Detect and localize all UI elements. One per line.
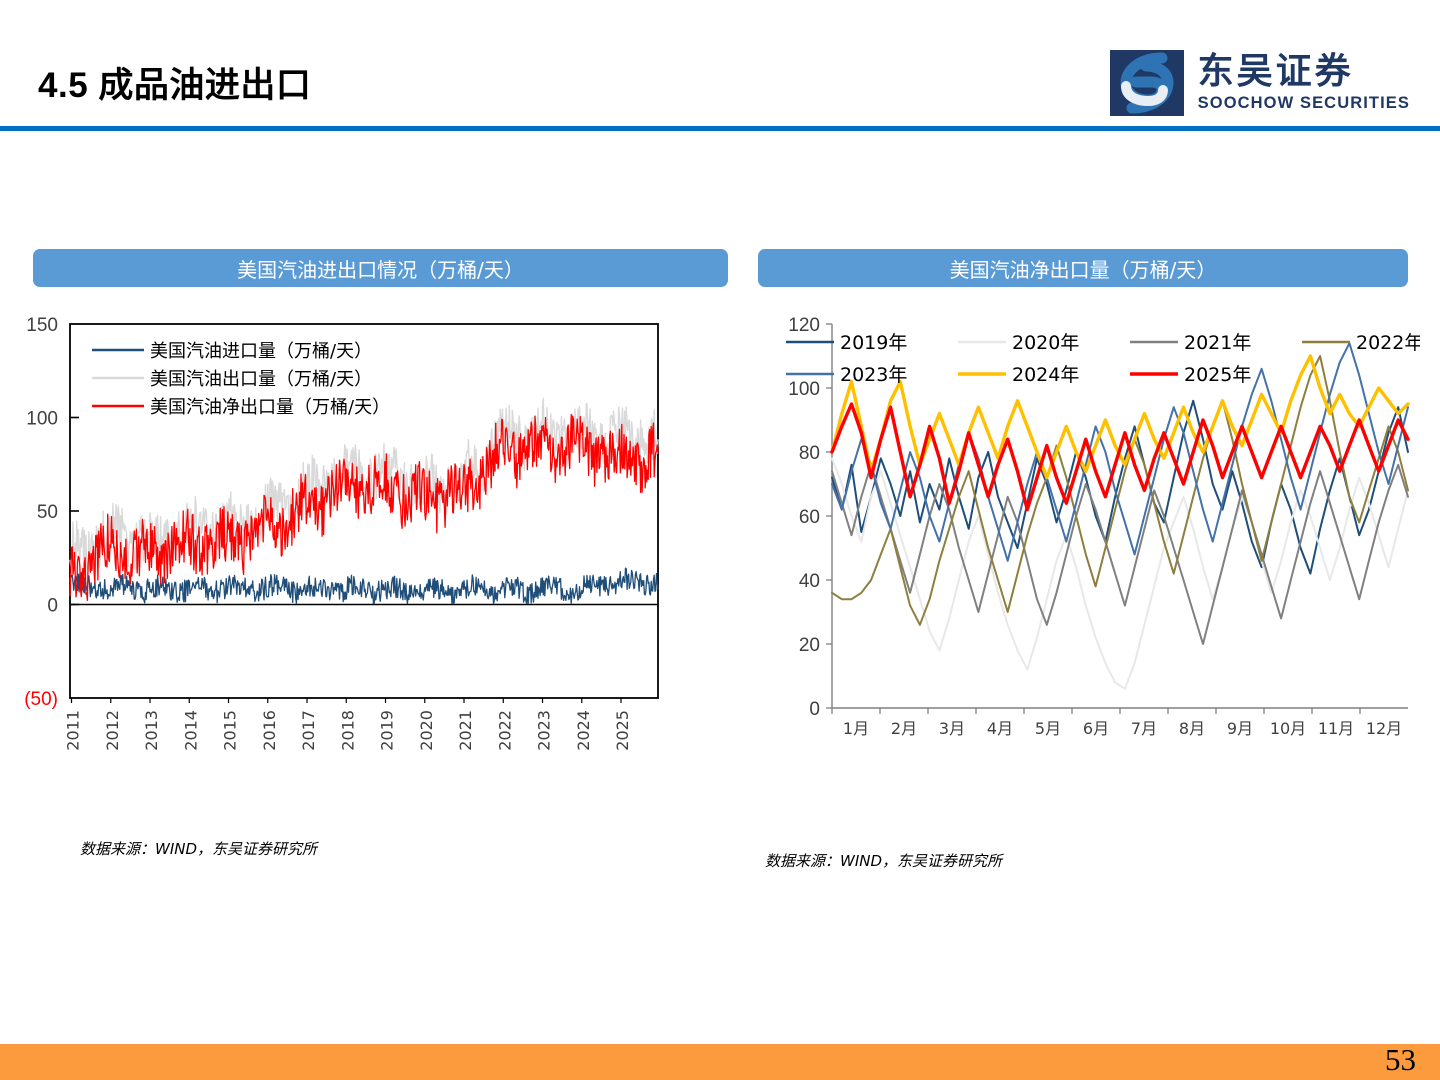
x-axis-tick-label: 2011 (64, 710, 83, 751)
page-title: 4.5 成品油进出口 (38, 57, 311, 108)
y-axis-tick-label: 20 (799, 635, 820, 656)
x-axis-tick-label: 9月 (1227, 719, 1253, 738)
page-number: 53 (1385, 1042, 1416, 1078)
y-axis-tick-label: 0 (47, 596, 58, 617)
x-axis-tick-label: 2017 (299, 710, 318, 751)
y-axis-tick-label: 80 (799, 443, 820, 464)
chart-left-svg: (50)050100150201120122013201420152016201… (10, 312, 680, 762)
y-axis-tick-label: 0 (809, 699, 820, 720)
legend-label-2021年: 2021年 (1184, 332, 1251, 354)
y-axis-tick-label: 100 (788, 379, 820, 400)
x-axis-tick-label: 11月 (1318, 719, 1354, 738)
chart-banner-left: 美国汽油进出口情况（万桶/天） (33, 249, 728, 287)
legend-label-2: 美国汽油净出口量（万桶/天） (150, 397, 390, 418)
source-note-right: 数据来源：WIND，东吴证券研究所 (765, 850, 1002, 871)
x-axis-tick-label: 5月 (1035, 719, 1061, 738)
chart-right-svg: 0204060801001201月2月3月4月5月6月7月8月9月10月11月1… (760, 312, 1420, 762)
y-axis-tick-label: 40 (799, 571, 820, 592)
series-line-2 (70, 415, 658, 601)
x-axis-tick-label: 2014 (181, 710, 200, 751)
y-axis-tick-label: (50) (24, 689, 58, 710)
x-axis-tick-label: 4月 (987, 719, 1013, 738)
y-axis-tick-label: 100 (26, 409, 58, 430)
x-axis-tick-label: 7月 (1131, 719, 1157, 738)
x-axis-tick-label: 2021 (456, 710, 475, 751)
legend-label-2023年: 2023年 (840, 364, 907, 386)
series-line-1 (70, 398, 658, 571)
y-axis-tick-label: 150 (26, 315, 58, 336)
y-axis-tick-label: 60 (799, 507, 820, 528)
x-axis-tick-label: 8月 (1179, 719, 1205, 738)
legend-label-2025年: 2025年 (1184, 364, 1251, 386)
legend-label-2019年: 2019年 (840, 332, 907, 354)
x-axis-tick-label: 10月 (1270, 719, 1306, 738)
logo-english-name: SOOCHOW SECURITIES (1198, 95, 1410, 112)
y-axis-tick-label: 50 (37, 502, 58, 523)
x-axis-tick-label: 6月 (1083, 719, 1109, 738)
x-axis-tick-label: 2023 (535, 710, 554, 751)
logo-chinese-name: 东吴证券 (1198, 54, 1410, 90)
chart-us-gasoline-import-export: (50)050100150201120122013201420152016201… (10, 312, 680, 762)
soochow-logo-mark (1110, 50, 1184, 116)
x-axis-tick-label: 2013 (142, 710, 161, 751)
x-axis-tick-label: 2015 (221, 710, 240, 751)
legend-label-2020年: 2020年 (1012, 332, 1079, 354)
source-note-left: 数据来源：WIND，东吴证券研究所 (80, 838, 317, 859)
y-axis-tick-label: 120 (788, 315, 820, 336)
header-divider (0, 126, 1440, 131)
series-line-2024年 (832, 356, 1408, 478)
legend-label-2022年: 2022年 (1356, 332, 1420, 354)
x-axis-tick-label: 2024 (574, 710, 593, 751)
legend-label-0: 美国汽油进口量（万桶/天） (150, 341, 372, 362)
x-axis-tick-label: 2019 (378, 710, 397, 751)
x-axis-tick-label: 2018 (338, 710, 357, 751)
company-logo: 东吴证券 SOOCHOW SECURITIES (1110, 48, 1410, 118)
x-axis-tick-label: 1月 (843, 719, 869, 738)
x-axis-tick-label: 12月 (1366, 719, 1402, 738)
legend-label-1: 美国汽油出口量（万桶/天） (150, 369, 372, 390)
x-axis-tick-label: 2月 (891, 719, 917, 738)
x-axis-tick-label: 2016 (260, 710, 279, 751)
x-axis-tick-label: 2022 (495, 710, 514, 751)
legend-label-2024年: 2024年 (1012, 364, 1079, 386)
x-axis-tick-label: 2012 (103, 710, 122, 751)
x-axis-tick-label: 2020 (417, 710, 436, 751)
x-axis-tick-label: 3月 (939, 719, 965, 738)
chart-banner-right: 美国汽油净出口量（万桶/天） (758, 249, 1408, 287)
footer-bar (0, 1044, 1440, 1080)
chart-us-gasoline-net-export: 0204060801001201月2月3月4月5月6月7月8月9月10月11月1… (760, 312, 1420, 762)
x-axis-tick-label: 2025 (613, 710, 632, 751)
